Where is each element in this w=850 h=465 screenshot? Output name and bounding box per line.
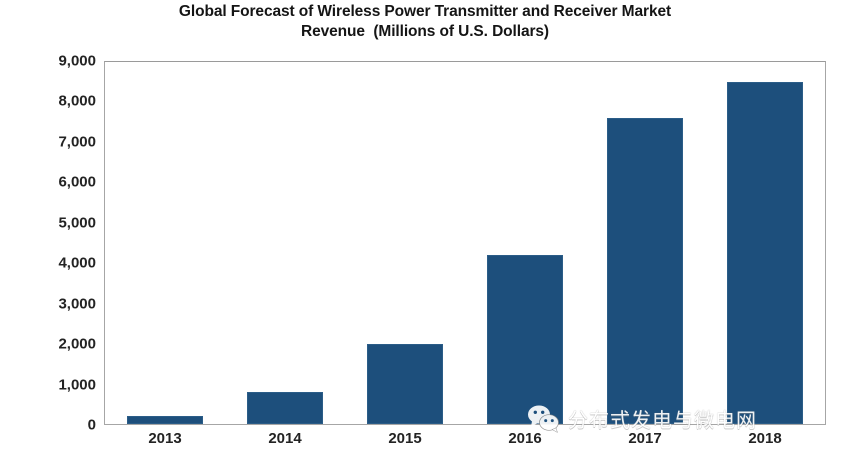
x-axis: 201320142015201620172018 [105,430,825,460]
bars-layer [105,62,825,424]
bar-slot [105,62,225,424]
y-tick-label: 0 [0,417,96,434]
y-tick-label: 9,000 [0,53,96,70]
x-tick-label: 2013 [105,430,225,447]
y-tick-label: 2,000 [0,336,96,353]
chart-title-line-1: Global Forecast of Wireless Power Transm… [95,2,755,22]
y-tick-label: 7,000 [0,133,96,150]
y-tick-label: 5,000 [0,214,96,231]
x-tick-label: 2016 [465,430,585,447]
bar-2018[interactable] [727,82,804,424]
y-tick-label: 4,000 [0,255,96,272]
bar-2013[interactable] [127,416,204,424]
chart-title: Global Forecast of Wireless Power Transm… [95,2,755,43]
y-tick-label: 8,000 [0,93,96,110]
bar-2017[interactable] [607,118,684,424]
y-axis: 01,0002,0003,0004,0005,0006,0007,0008,00… [0,61,96,425]
bar-slot [585,62,705,424]
x-tick-label: 2014 [225,430,345,447]
chart-title-line-2: Revenue (Millions of U.S. Dollars) [95,22,755,42]
bar-slot [225,62,345,424]
y-tick-label: 6,000 [0,174,96,191]
x-tick-label: 2015 [345,430,465,447]
x-tick-label: 2018 [705,430,825,447]
bar-slot [705,62,825,424]
bar-chart-figure: Global Forecast of Wireless Power Transm… [0,0,850,465]
bar-2014[interactable] [247,392,324,424]
bar-2015[interactable] [367,344,444,424]
y-tick-label: 3,000 [0,295,96,312]
x-tick-label: 2017 [585,430,705,447]
bar-slot [345,62,465,424]
y-tick-label: 1,000 [0,376,96,393]
bar-2016[interactable] [487,255,564,424]
bar-slot [465,62,585,424]
